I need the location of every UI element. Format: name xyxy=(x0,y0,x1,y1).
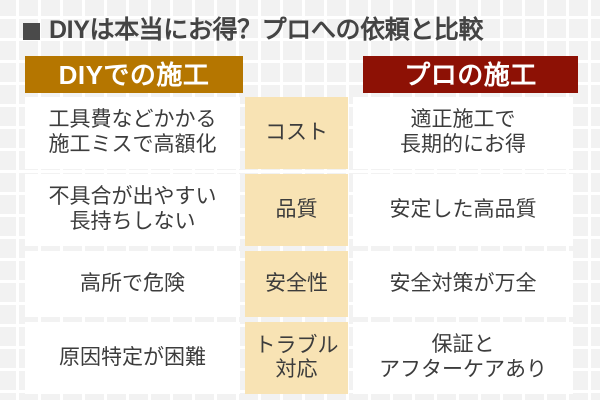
table-row: 工具費などかかる 施工ミスで高額化 コスト 適正施工で 長期的にお得 xyxy=(25,97,578,169)
page-title: DIYは本当にお得？プロへの依頼と比較 xyxy=(23,12,583,48)
cell-category-line2: 対応 xyxy=(255,358,339,382)
cell-pro-line1: 安全対策が万全 xyxy=(390,272,537,297)
cell-pro-line2: アフターケアあり xyxy=(379,358,547,383)
cell-category-line1: 品質 xyxy=(276,198,318,222)
table-row: 原因特定が困難 トラブル 対応 保証と アフターケアあり xyxy=(25,322,578,394)
cell-diy-line1: 不具合が出やすい xyxy=(49,185,217,210)
cell-category-line1: コスト xyxy=(265,121,328,145)
cell-pro-line1: 適正施工で xyxy=(400,108,526,133)
cell-category: コスト xyxy=(245,97,348,169)
cell-category: 安全性 xyxy=(245,251,348,317)
cell-pro: 安定した高品質 xyxy=(353,174,573,246)
column-header-pro: プロの施工 xyxy=(363,56,578,93)
cell-category: トラブル 対応 xyxy=(245,322,348,394)
cell-category-line1: 安全性 xyxy=(265,272,328,296)
cell-diy-line1: 原因特定が困難 xyxy=(59,346,206,371)
cell-pro: 安全対策が万全 xyxy=(353,251,573,317)
cell-pro: 保証と アフターケアあり xyxy=(353,322,573,394)
column-header-pro-label: プロの施工 xyxy=(404,62,537,88)
cell-diy-line1: 工具費などかかる xyxy=(49,108,217,133)
cell-diy: 高所で危険 xyxy=(25,251,240,317)
cell-pro: 適正施工で 長期的にお得 xyxy=(353,97,573,169)
cell-diy-line2: 長持ちしない xyxy=(49,210,217,235)
cell-category: 品質 xyxy=(245,174,348,246)
column-header-diy-label: DIYでの施工 xyxy=(59,62,210,88)
comparison-table: 工具費などかかる 施工ミスで高額化 コスト 適正施工で 長期的にお得 不具合が出… xyxy=(25,97,578,394)
cell-diy: 工具費などかかる 施工ミスで高額化 xyxy=(25,97,240,169)
cell-pro-line2: 長期的にお得 xyxy=(400,133,526,158)
cell-diy-line1: 高所で危険 xyxy=(80,272,185,297)
table-row: 高所で危険 安全性 安全対策が万全 xyxy=(25,251,578,317)
cell-pro-line1: 安定した高品質 xyxy=(390,198,537,223)
cell-diy: 原因特定が困難 xyxy=(25,322,240,394)
page-title-text: DIYは本当にお得？プロへの依頼と比較 xyxy=(49,18,483,43)
comparison-infographic: DIYは本当にお得？プロへの依頼と比較 DIYでの施工 プロの施工 工具費などか… xyxy=(0,0,600,400)
cell-category-line1: トラブル xyxy=(255,334,339,358)
cell-diy: 不具合が出やすい 長持ちしない xyxy=(25,174,240,246)
square-bullet-icon xyxy=(23,23,40,40)
table-row: 不具合が出やすい 長持ちしない 品質 安定した高品質 xyxy=(25,174,578,246)
column-header-diy: DIYでの施工 xyxy=(25,56,243,93)
cell-pro-line1: 保証と xyxy=(379,333,547,358)
cell-diy-line2: 施工ミスで高額化 xyxy=(49,133,217,158)
